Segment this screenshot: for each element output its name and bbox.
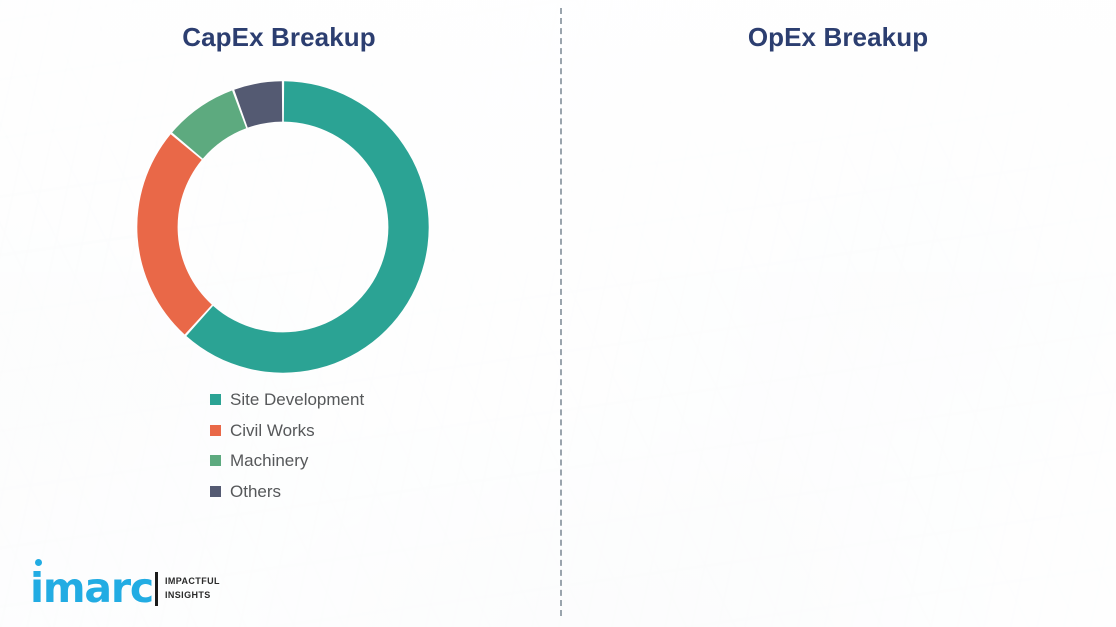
opex-title: OpEx Breakup	[560, 22, 1116, 53]
slide-canvas: CapEx Breakup Site Development Civil Wor…	[0, 0, 1116, 627]
legend-swatch-icon	[210, 394, 221, 405]
logo-divider-bar	[155, 572, 158, 606]
legend-item-machinery[interactable]: Machinery	[210, 451, 364, 471]
legend-swatch-icon	[210, 486, 221, 497]
legend-swatch-icon	[210, 425, 221, 436]
logo-tagline-line1: IMPACTFUL	[165, 575, 220, 588]
donut-slice[interactable]	[137, 134, 212, 334]
capex-donut-chart	[128, 72, 438, 382]
logo-tagline: IMPACTFUL INSIGHTS	[165, 575, 220, 601]
legend-label: Others	[230, 482, 281, 502]
logo-wordmark: imarc	[30, 568, 153, 609]
legend-label: Civil Works	[230, 421, 315, 441]
capex-panel: CapEx Breakup Site Development Civil Wor…	[0, 0, 558, 627]
logo-tagline-line2: INSIGHTS	[165, 589, 220, 602]
imarc-logo: imarc IMPACTFUL INSIGHTS	[30, 568, 220, 609]
capex-slice-group	[137, 81, 428, 372]
legend-item-civil-works[interactable]: Civil Works	[210, 421, 364, 441]
capex-donut-svg	[128, 72, 438, 382]
opex-panel: OpEx Breakup Raw Materials Salaries and …	[560, 0, 1116, 627]
legend-item-others[interactable]: Others	[210, 482, 364, 502]
capex-title: CapEx Breakup	[0, 22, 558, 53]
legend-label: Machinery	[230, 451, 308, 471]
legend-swatch-icon	[210, 455, 221, 466]
logo-dot-icon	[35, 559, 42, 566]
legend-label: Site Development	[230, 390, 364, 410]
legend-item-site-development[interactable]: Site Development	[210, 390, 364, 410]
capex-legend: Site Development Civil Works Machinery O…	[210, 390, 364, 512]
logo-wordmark-text: imarc	[30, 564, 153, 612]
